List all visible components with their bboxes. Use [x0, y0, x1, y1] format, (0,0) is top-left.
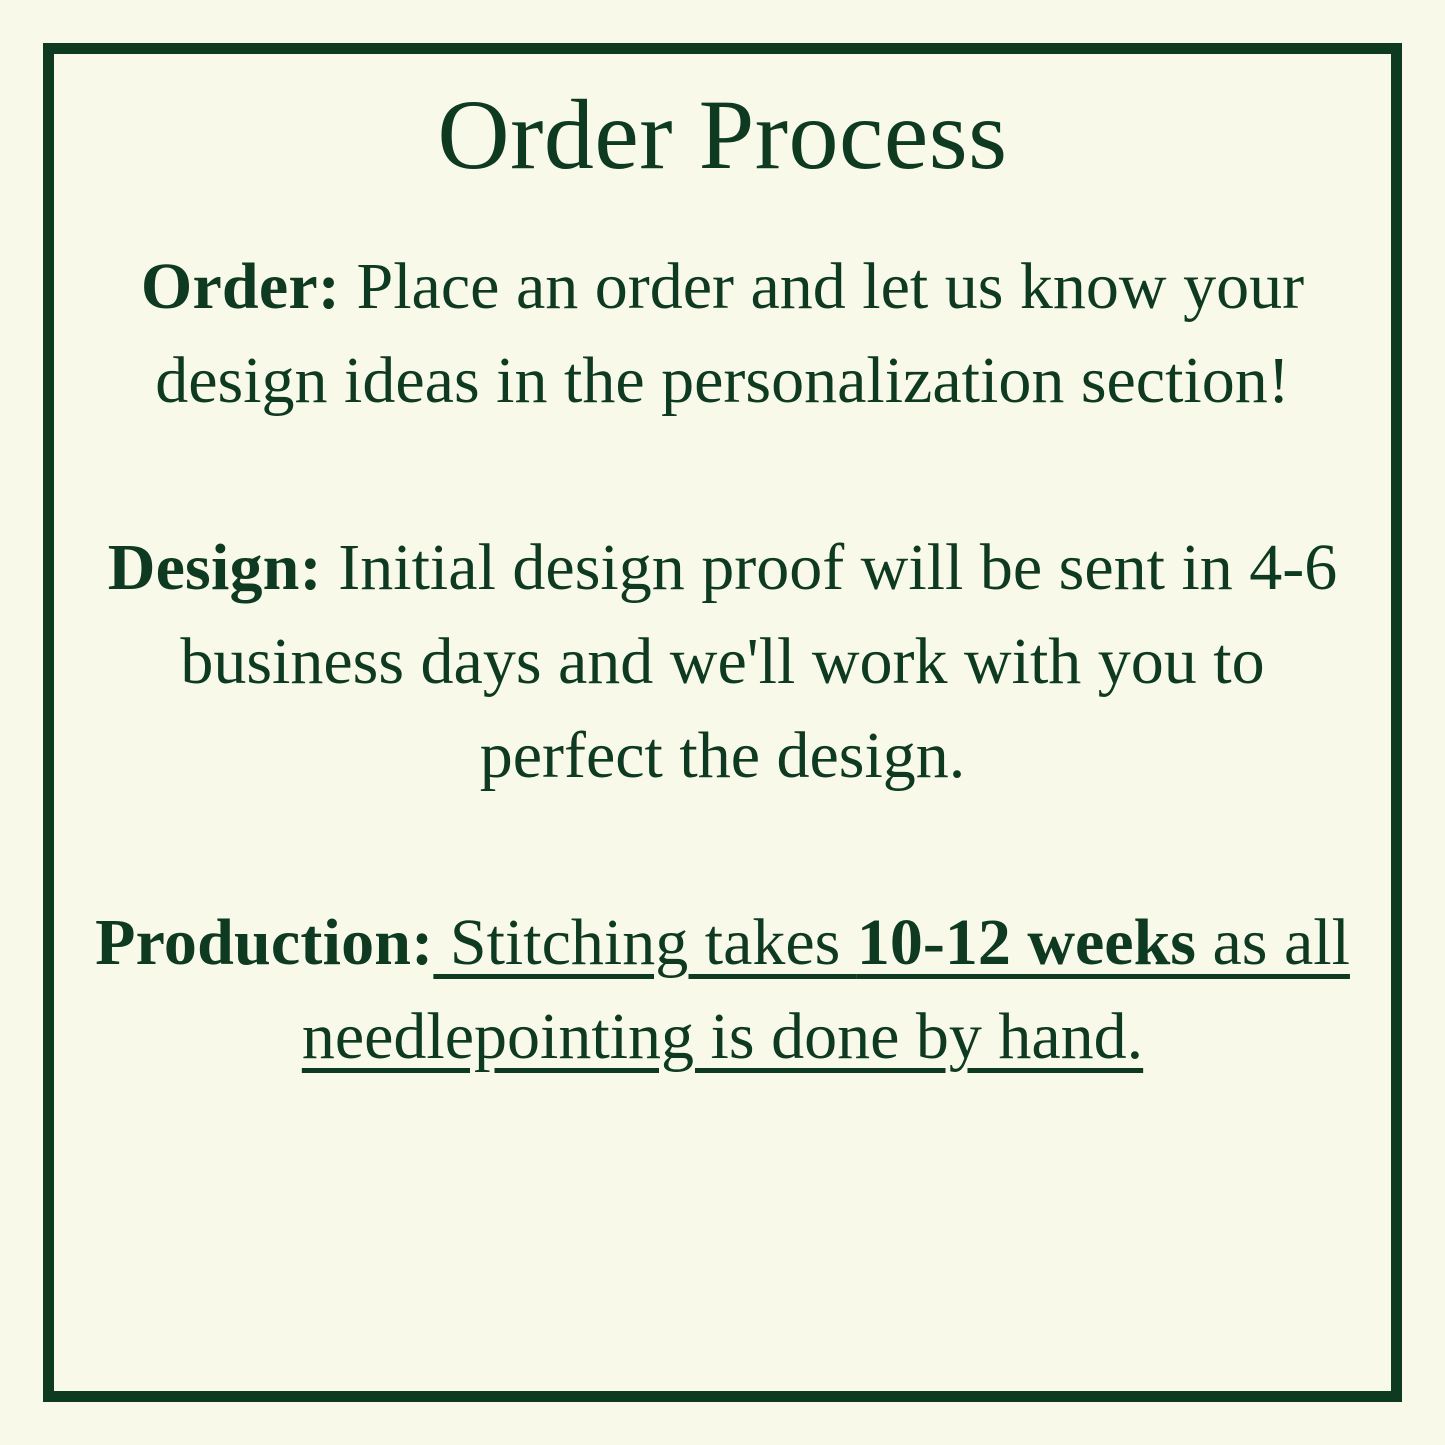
order-process-card: Order Process Order: Place an order and …: [43, 43, 1402, 1402]
step-production-duration: 10-12 weeks: [857, 906, 1196, 979]
card-content: Order Process Order: Place an order and …: [54, 54, 1391, 1391]
step-design-body: Initial design proof will be sent in 4-6…: [180, 531, 1337, 791]
step-production: Production: Stitching takes 10-12 weeks …: [92, 896, 1353, 1083]
step-order-label: Order:: [141, 250, 340, 323]
page-title: Order Process: [92, 76, 1353, 194]
step-production-label: Production:: [95, 906, 433, 979]
step-order: Order: Place an order and let us know yo…: [92, 240, 1353, 427]
step-production-body-before: Stitching takes: [433, 906, 856, 979]
step-design-label: Design:: [108, 531, 322, 604]
step-design: Design: Initial design proof will be sen…: [92, 521, 1353, 802]
steps-list: Order: Place an order and let us know yo…: [92, 240, 1353, 1083]
